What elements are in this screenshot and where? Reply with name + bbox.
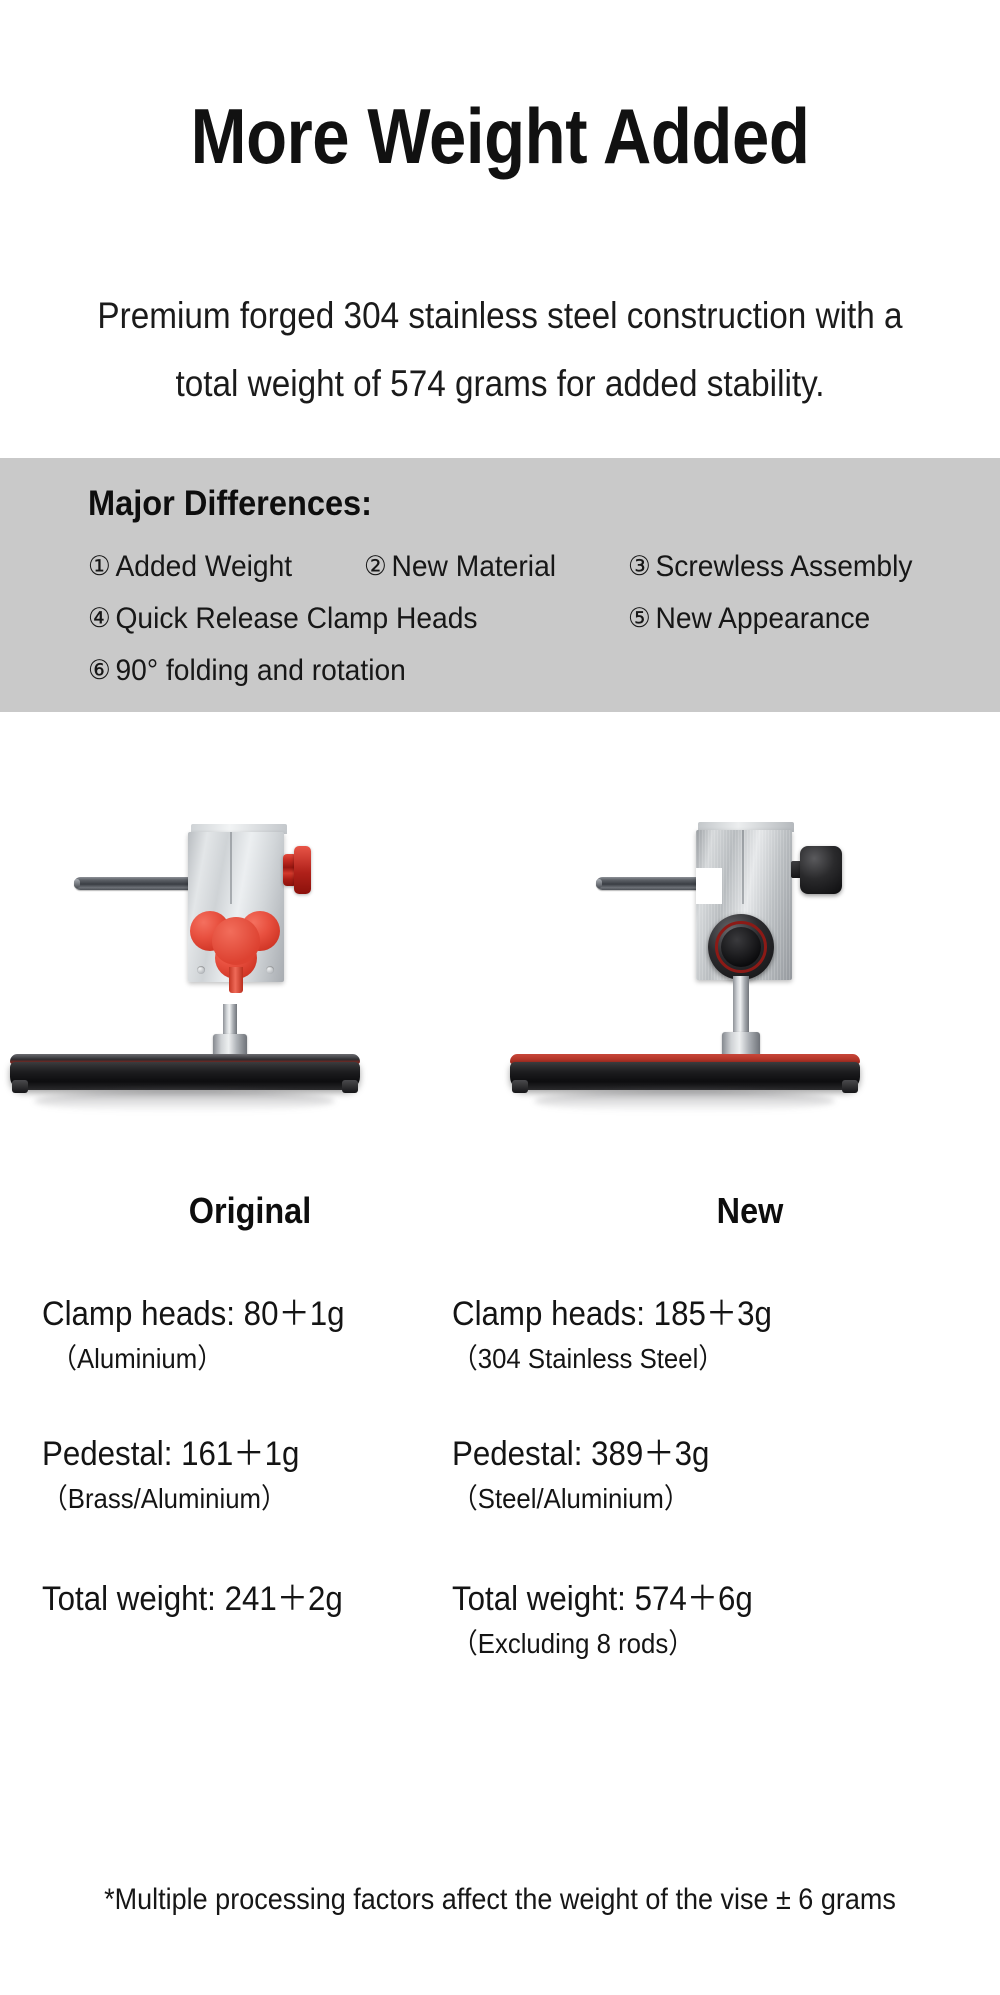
circled-number-4-icon: ④	[88, 593, 111, 643]
feature-item-3: ③Screwless Assembly	[628, 541, 912, 592]
spec-value: Pedestal: 389＋3g	[452, 1430, 709, 1478]
base-plate	[510, 1054, 860, 1098]
black-side-knob	[800, 846, 842, 894]
footnote: *Multiple processing factors affect the …	[50, 1880, 950, 1920]
circled-number-2-icon: ②	[364, 541, 387, 591]
support-post	[733, 976, 749, 1036]
clamp-head-notch	[696, 868, 722, 904]
spec-value: Clamp heads: 80＋1g	[42, 1290, 345, 1338]
panel-title: Major Differences:	[88, 483, 372, 525]
spec-material: （304 Stainless Steel）	[452, 1338, 772, 1380]
base-reflection	[34, 1090, 335, 1112]
base-foot	[842, 1080, 858, 1093]
trefoil-hub	[212, 917, 260, 965]
feature-row: ④Quick Release Clamp Heads ⑤New Appearan…	[88, 593, 978, 645]
infographic-page: More Weight Added Premium forged 304 sta…	[0, 0, 1000, 1995]
feature-item-6: ⑥90° folding and rotation	[88, 645, 406, 696]
spec-material: （Brass/Aluminium）	[42, 1478, 299, 1520]
feature-label: Quick Release Clamp Heads	[115, 602, 477, 635]
base-body	[510, 1062, 860, 1090]
spec-value: Total weight: 241＋2g	[42, 1575, 343, 1623]
black-ring-knob	[708, 914, 774, 980]
spec-cell-new: Clamp heads: 185＋3g （304 Stainless Steel…	[452, 1290, 800, 1380]
spec-cell-new: Pedestal: 389＋3g （Steel/Aluminium）	[452, 1430, 732, 1520]
feature-list: ①Added Weight ②New Material ③Screwless A…	[88, 541, 978, 697]
clamp-head-seam	[230, 832, 232, 904]
new-vise-photo	[500, 742, 1000, 1122]
spec-cell-original: Clamp heads: 80＋1g （Aluminium）	[42, 1290, 371, 1380]
spec-comparison-table: Clamp heads: 80＋1g （Aluminium） Clamp hea…	[0, 1290, 1000, 1715]
circled-number-5-icon: ⑤	[628, 593, 651, 643]
clamp-head-seam	[742, 830, 744, 904]
trefoil-stem	[229, 967, 243, 993]
feature-item-4: ④Quick Release Clamp Heads	[88, 593, 478, 644]
spec-material: （Aluminium）	[42, 1338, 345, 1380]
feature-item-1: ①Added Weight	[88, 541, 292, 592]
red-trefoil-knob	[190, 905, 282, 977]
circled-number-1-icon: ①	[88, 541, 111, 591]
spec-cell-original: Total weight: 241＋2g	[42, 1575, 369, 1623]
spec-cell-new: Total weight: 574＋6g （Excluding 8 rods）	[452, 1575, 779, 1665]
circled-number-3-icon: ③	[628, 541, 651, 591]
base-plate	[10, 1054, 360, 1098]
spec-value: Clamp heads: 185＋3g	[452, 1290, 772, 1338]
feature-label: New Appearance	[655, 602, 870, 635]
feature-row: ⑥90° folding and rotation	[88, 645, 978, 697]
product-comparison-images	[0, 742, 1000, 1122]
feature-label: New Material	[391, 550, 556, 583]
feature-item-5: ⑤New Appearance	[628, 593, 870, 644]
spec-row-pedestal: Pedestal: 161＋1g （Brass/Aluminium） Pedes…	[0, 1430, 1000, 1575]
base-reflection	[534, 1090, 835, 1112]
major-differences-panel: Major Differences: ①Added Weight ②New Ma…	[0, 458, 1000, 712]
feature-label: Added Weight	[115, 550, 292, 583]
feature-label: Screwless Assembly	[655, 550, 912, 583]
base-foot	[342, 1080, 358, 1093]
circled-number-6-icon: ⑥	[88, 645, 111, 695]
spec-row-total-weight: Total weight: 241＋2g Total weight: 574＋6…	[0, 1575, 1000, 1715]
column-heading-original: Original	[25, 1188, 475, 1234]
knob-core	[721, 927, 761, 967]
original-vise-illustration	[0, 742, 500, 1122]
spec-value: Pedestal: 161＋1g	[42, 1430, 299, 1478]
base-foot	[512, 1080, 528, 1093]
subtitle-line-2: total weight of 574 grams for added stab…	[37, 350, 962, 418]
page-title: More Weight Added	[70, 93, 930, 179]
subtitle: Premium forged 304 stainless steel const…	[37, 282, 962, 418]
subtitle-line-1: Premium forged 304 stainless steel const…	[37, 282, 962, 350]
feature-row: ①Added Weight ②New Material ③Screwless A…	[88, 541, 978, 593]
spec-row-clamp-heads: Clamp heads: 80＋1g （Aluminium） Clamp hea…	[0, 1290, 1000, 1430]
spec-material: （Excluding 8 rods）	[452, 1623, 753, 1665]
feature-item-2: ②New Material	[364, 541, 556, 592]
base-body	[10, 1062, 360, 1090]
support-post	[223, 1004, 237, 1038]
feature-label: 90° folding and rotation	[115, 654, 405, 687]
spec-value: Total weight: 574＋6g	[452, 1575, 753, 1623]
spec-cell-original: Pedestal: 161＋1g （Brass/Aluminium）	[42, 1430, 322, 1520]
original-vise-photo	[0, 742, 500, 1122]
spec-material: （Steel/Aluminium）	[452, 1478, 709, 1520]
clamp-rod	[74, 877, 204, 890]
new-vise-illustration	[500, 742, 1000, 1122]
base-foot	[12, 1080, 28, 1093]
red-knob-cap	[294, 846, 311, 894]
column-heading-new: New	[525, 1188, 975, 1234]
